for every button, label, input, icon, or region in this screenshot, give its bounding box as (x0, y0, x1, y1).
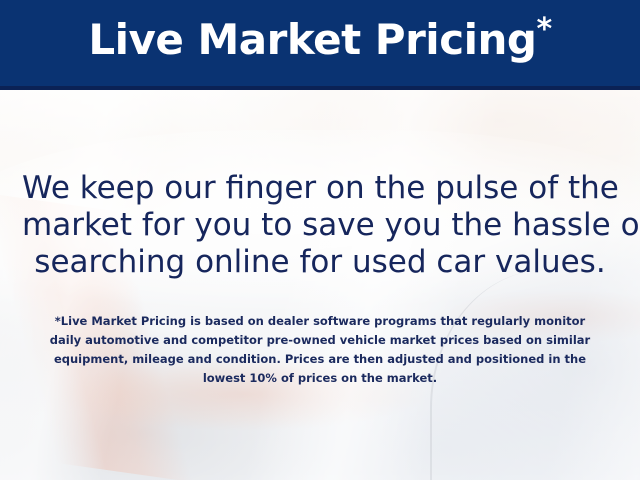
page-title: Live Market Pricing* (88, 19, 551, 67)
disclaimer-line-4: lowest 10% of prices on the market. (28, 369, 612, 388)
disclaimer-line-1: *Live Market Pricing is based on dealer … (28, 312, 612, 331)
header-banner: Live Market Pricing* (0, 0, 640, 90)
disclaimer-line-2: daily automotive and competitor pre-owne… (28, 331, 612, 350)
disclaimer-text: *Live Market Pricing is based on dealer … (0, 312, 640, 388)
disclaimer-line-3: equipment, mileage and condition. Prices… (28, 350, 612, 369)
page-title-asterisk: * (536, 12, 551, 47)
live-market-pricing-promo-card: Live Market Pricing* We keep our finger … (0, 0, 640, 480)
content-area: We keep our finger on the pulse of the m… (0, 90, 640, 480)
headline-text: We keep our finger on the pulse of the m… (0, 170, 640, 281)
headline-line-1: We keep our finger on the pulse of the (22, 170, 618, 207)
headline-line-3: searching online for used car values. (22, 244, 618, 281)
page-title-text: Live Market Pricing (88, 15, 536, 64)
headline-line-2: market for you to save you the hassle of (22, 207, 618, 244)
